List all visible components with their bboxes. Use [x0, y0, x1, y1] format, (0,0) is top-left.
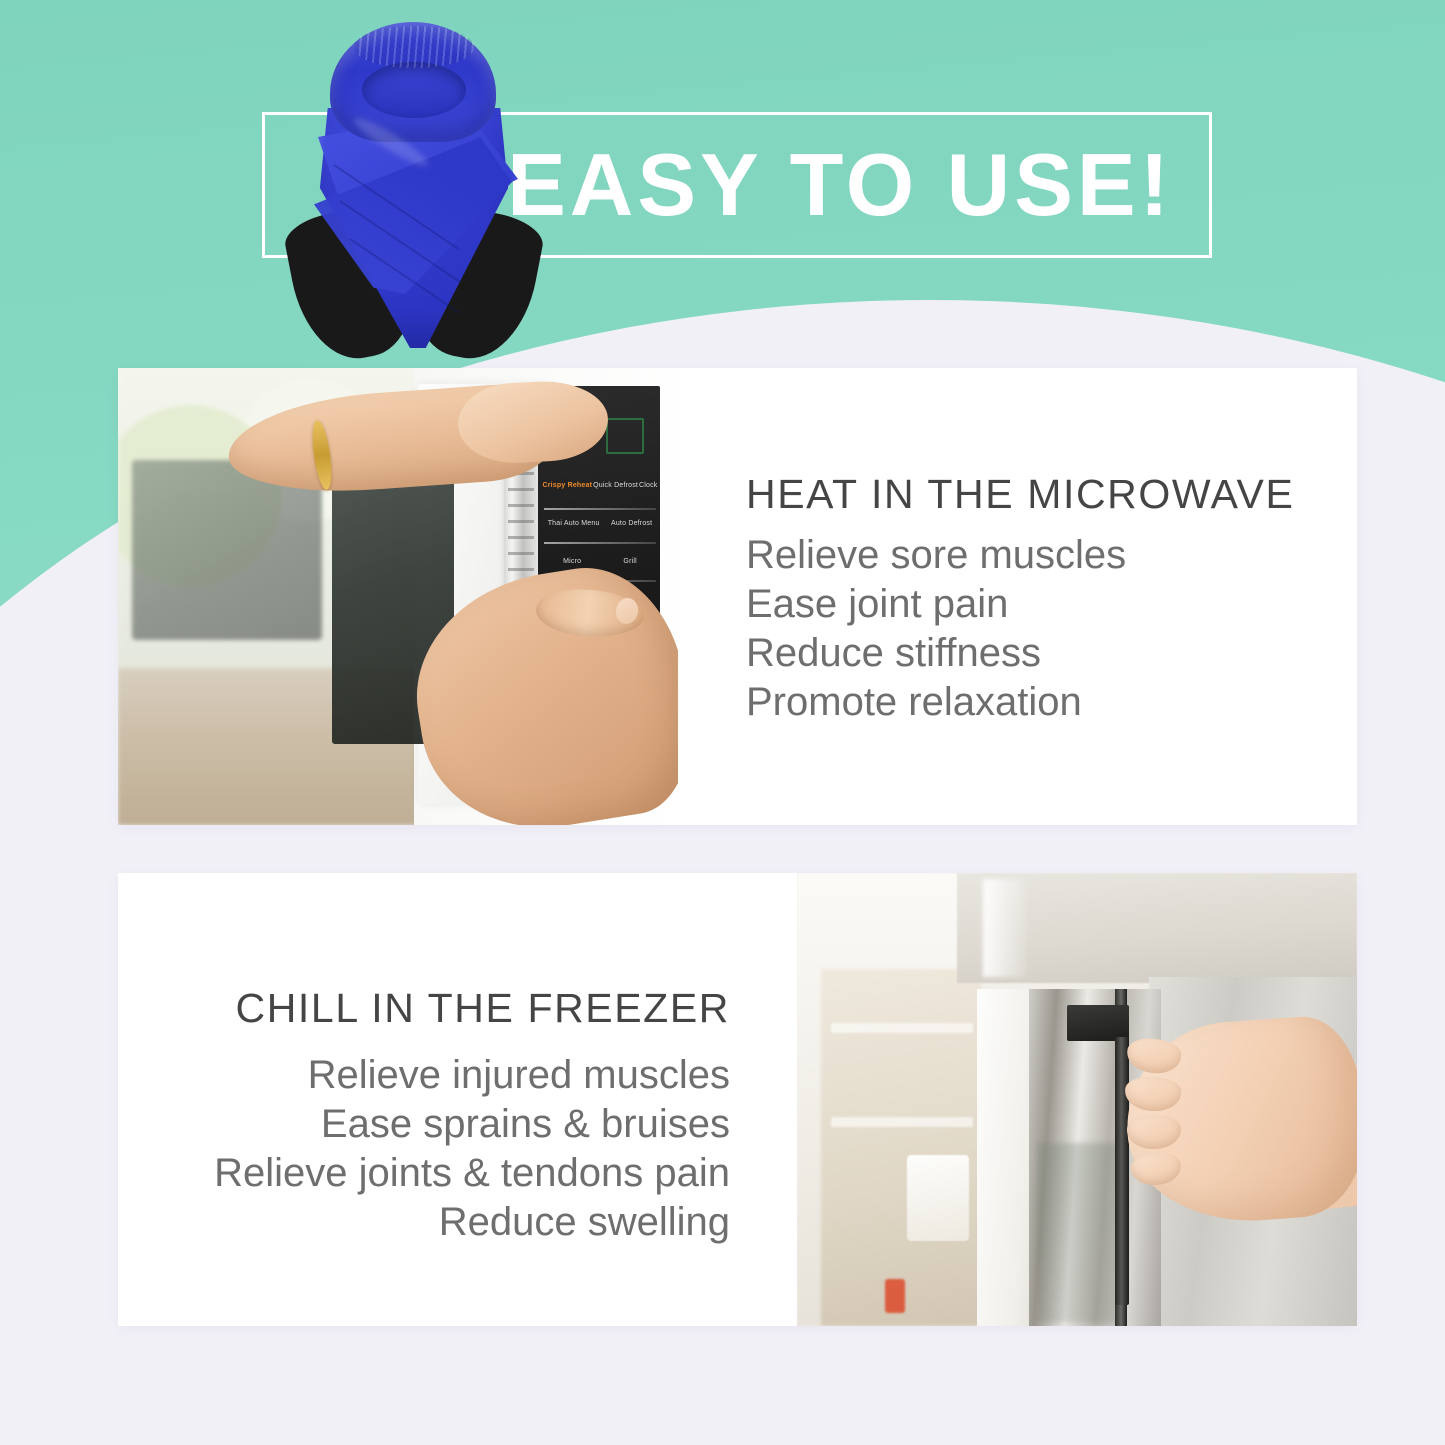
list-item: Relieve injured muscles	[130, 1051, 730, 1100]
microwave-divider-2	[544, 542, 656, 544]
microwave-text-block: HEAT IN THE MICROWAVE Relieve sore muscl…	[746, 368, 1346, 825]
freezer-scene	[797, 873, 1357, 1326]
microwave-button-row-3: Micro Grill	[542, 558, 658, 566]
fridge-shelf-2	[831, 1117, 973, 1127]
fridge-item-red	[885, 1279, 905, 1313]
list-item: Reduce swelling	[130, 1198, 730, 1247]
fridge-handle-bracket	[1067, 1005, 1129, 1041]
list-item: Promote relaxation	[746, 678, 1346, 727]
list-item: Relieve sore muscles	[746, 531, 1346, 580]
microwave-divider-1	[544, 508, 656, 510]
microwave-heading: HEAT IN THE MICROWAVE	[746, 471, 1346, 518]
button-crispy-reheat[interactable]: Crispy Reheat	[542, 482, 592, 490]
page-title: EASY TO USE!	[470, 133, 1210, 237]
microwave-button-row-2: Thai Auto Menu Auto Defrost	[542, 520, 658, 528]
product-image-neck-wrap	[288, 14, 538, 359]
list-item: Relieve joints & tendons pain	[130, 1149, 730, 1198]
card-heat-microwave: Crispy Reheat Quick Defrost Clock Thai A…	[118, 368, 1357, 825]
microwave-benefit-list: Relieve sore muscles Ease joint pain Red…	[746, 531, 1346, 727]
freezer-benefit-list: Relieve injured muscles Ease sprains & b…	[130, 1051, 730, 1247]
product-collar-ribbing	[354, 26, 474, 68]
product-collar-opening	[362, 62, 466, 118]
freezer-photo	[797, 873, 1357, 1326]
infographic-page: EASY TO USE!	[0, 0, 1445, 1445]
fridge-door-bin	[907, 1155, 969, 1241]
microwave-display	[606, 418, 644, 454]
microwave-photo: Crispy Reheat Quick Defrost Clock Thai A…	[118, 368, 678, 825]
microwave-button-row-1: Crispy Reheat Quick Defrost Clock	[542, 482, 658, 490]
button-clock[interactable]: Clock	[639, 482, 658, 490]
button-thai-auto-menu[interactable]: Thai Auto Menu	[548, 520, 600, 528]
button-micro[interactable]: Micro	[563, 558, 581, 566]
card-chill-freezer: CHILL IN THE FREEZER Relieve injured mus…	[118, 873, 1357, 1326]
list-item: Ease joint pain	[746, 580, 1346, 629]
freezer-heading: CHILL IN THE FREEZER	[130, 985, 730, 1032]
list-item: Reduce stiffness	[746, 629, 1346, 678]
fridge-door-reflection	[1037, 1143, 1121, 1323]
freezer-text-block: CHILL IN THE FREEZER Relieve injured mus…	[130, 873, 730, 1326]
fridge-handle-bar	[1115, 1037, 1129, 1305]
button-quick-defrost[interactable]: Quick Defrost	[593, 482, 638, 490]
microwave-scene: Crispy Reheat Quick Defrost Clock Thai A…	[118, 368, 678, 825]
button-grill[interactable]: Grill	[623, 558, 636, 566]
list-item: Ease sprains & bruises	[130, 1100, 730, 1149]
fridge-shelf-1	[831, 1023, 973, 1033]
fridge-top-highlight	[983, 879, 1027, 977]
button-auto-defrost[interactable]: Auto Defrost	[611, 520, 652, 528]
